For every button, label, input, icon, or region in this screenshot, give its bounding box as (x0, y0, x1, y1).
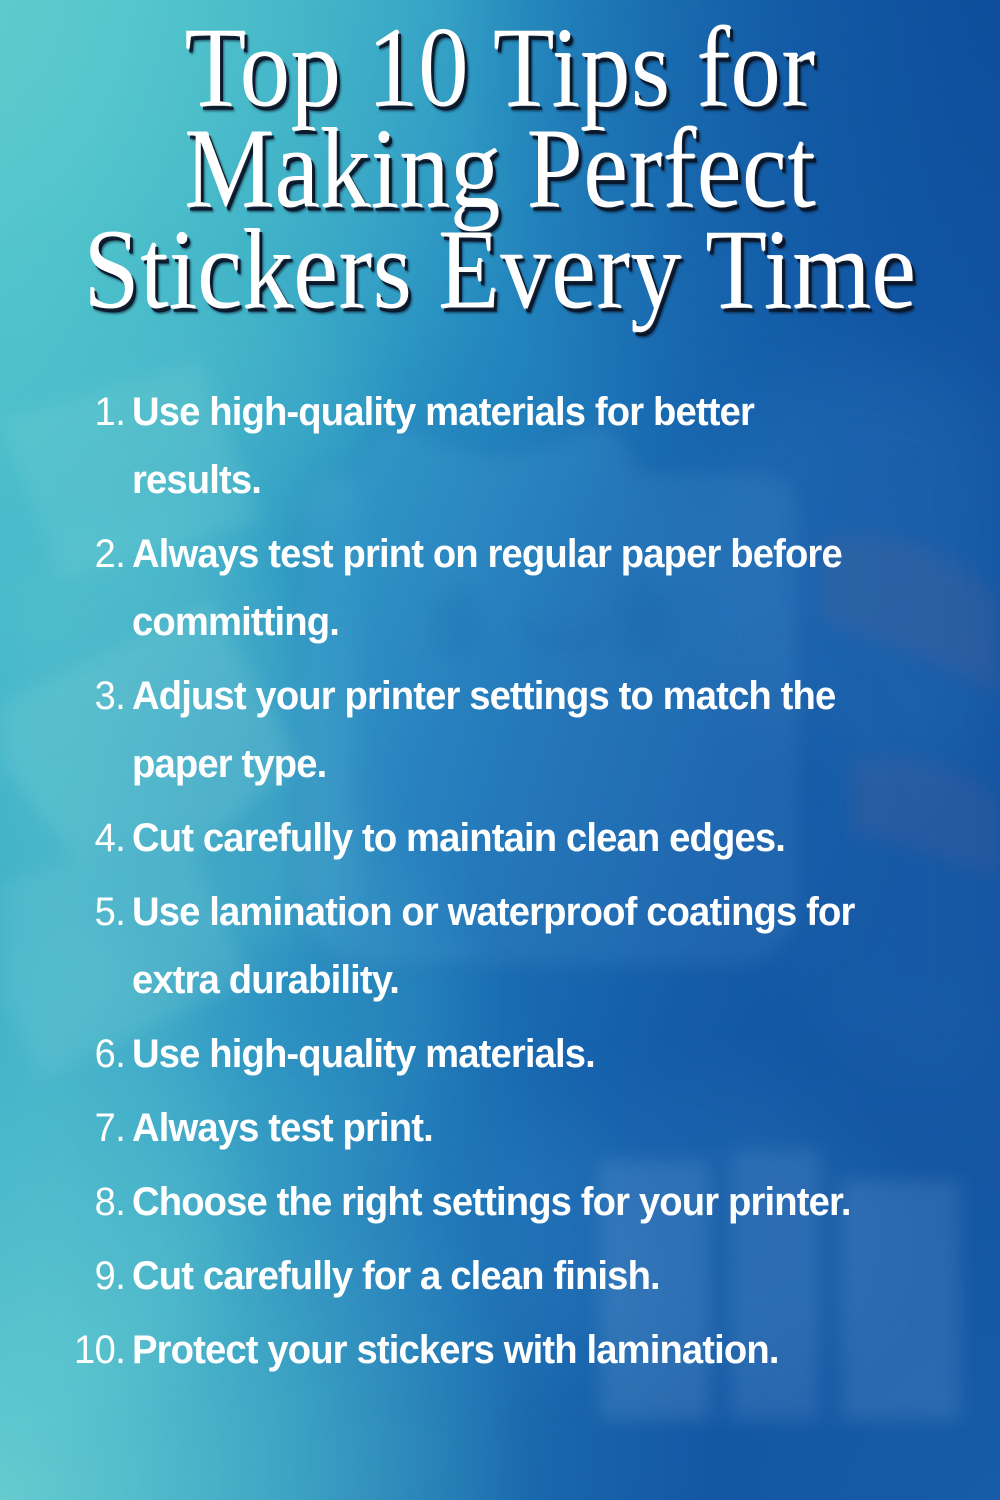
list-item: 6. Use high-quality materials. (0, 1020, 1000, 1088)
list-item: 7. Always test print. (0, 1094, 1000, 1162)
list-item: 4. Cut carefully to maintain clean edges… (0, 804, 1000, 872)
list-item-number: 1. (7, 378, 132, 446)
poster-canvas: Top 10 Tips for Making Perfect Stickers … (0, 0, 1000, 1500)
list-item-number: 8. (7, 1168, 132, 1236)
list-item-text: Adjust your printer settings to match th… (132, 662, 891, 798)
list-item-text: Use high-quality materials. (132, 1020, 595, 1088)
poster-title: Top 10 Tips for Making Perfect Stickers … (0, 14, 1000, 314)
list-item-number: 2. (7, 520, 132, 588)
list-item: 1. Use high-quality materials for better… (0, 378, 1000, 514)
list-item: 8. Choose the right settings for your pr… (0, 1168, 1000, 1236)
list-item-number: 4. (7, 804, 132, 872)
list-item: 9. Cut carefully for a clean finish. (0, 1242, 1000, 1310)
list-item-number: 3. (7, 662, 132, 730)
list-item-text: Use lamination or waterproof coatings fo… (132, 878, 891, 1014)
list-item-number: 6. (7, 1020, 132, 1088)
list-item-number: 9. (7, 1242, 132, 1310)
list-item-text: Use high-quality materials for better re… (132, 378, 891, 514)
list-item-text: Protect your stickers with lamination. (132, 1316, 779, 1384)
tips-list: 1. Use high-quality materials for better… (0, 378, 1000, 1390)
list-item-number: 7. (7, 1094, 132, 1162)
list-item-number: 5. (7, 878, 132, 946)
list-item: 2. Always test print on regular paper be… (0, 520, 1000, 656)
list-item-text: Cut carefully to maintain clean edges. (132, 804, 785, 872)
list-item: 10. Protect your stickers with laminatio… (0, 1316, 1000, 1384)
list-item-text: Choose the right settings for your print… (132, 1168, 851, 1236)
list-item-text: Always test print on regular paper befor… (132, 520, 891, 656)
list-item: 3. Adjust your printer settings to match… (0, 662, 1000, 798)
title-line-3: Stickers Every Time (15, 216, 985, 325)
list-item-text: Always test print. (132, 1094, 433, 1162)
list-item: 5. Use lamination or waterproof coatings… (0, 878, 1000, 1014)
list-item-number: 10. (7, 1316, 132, 1384)
list-item-text: Cut carefully for a clean finish. (132, 1242, 660, 1310)
